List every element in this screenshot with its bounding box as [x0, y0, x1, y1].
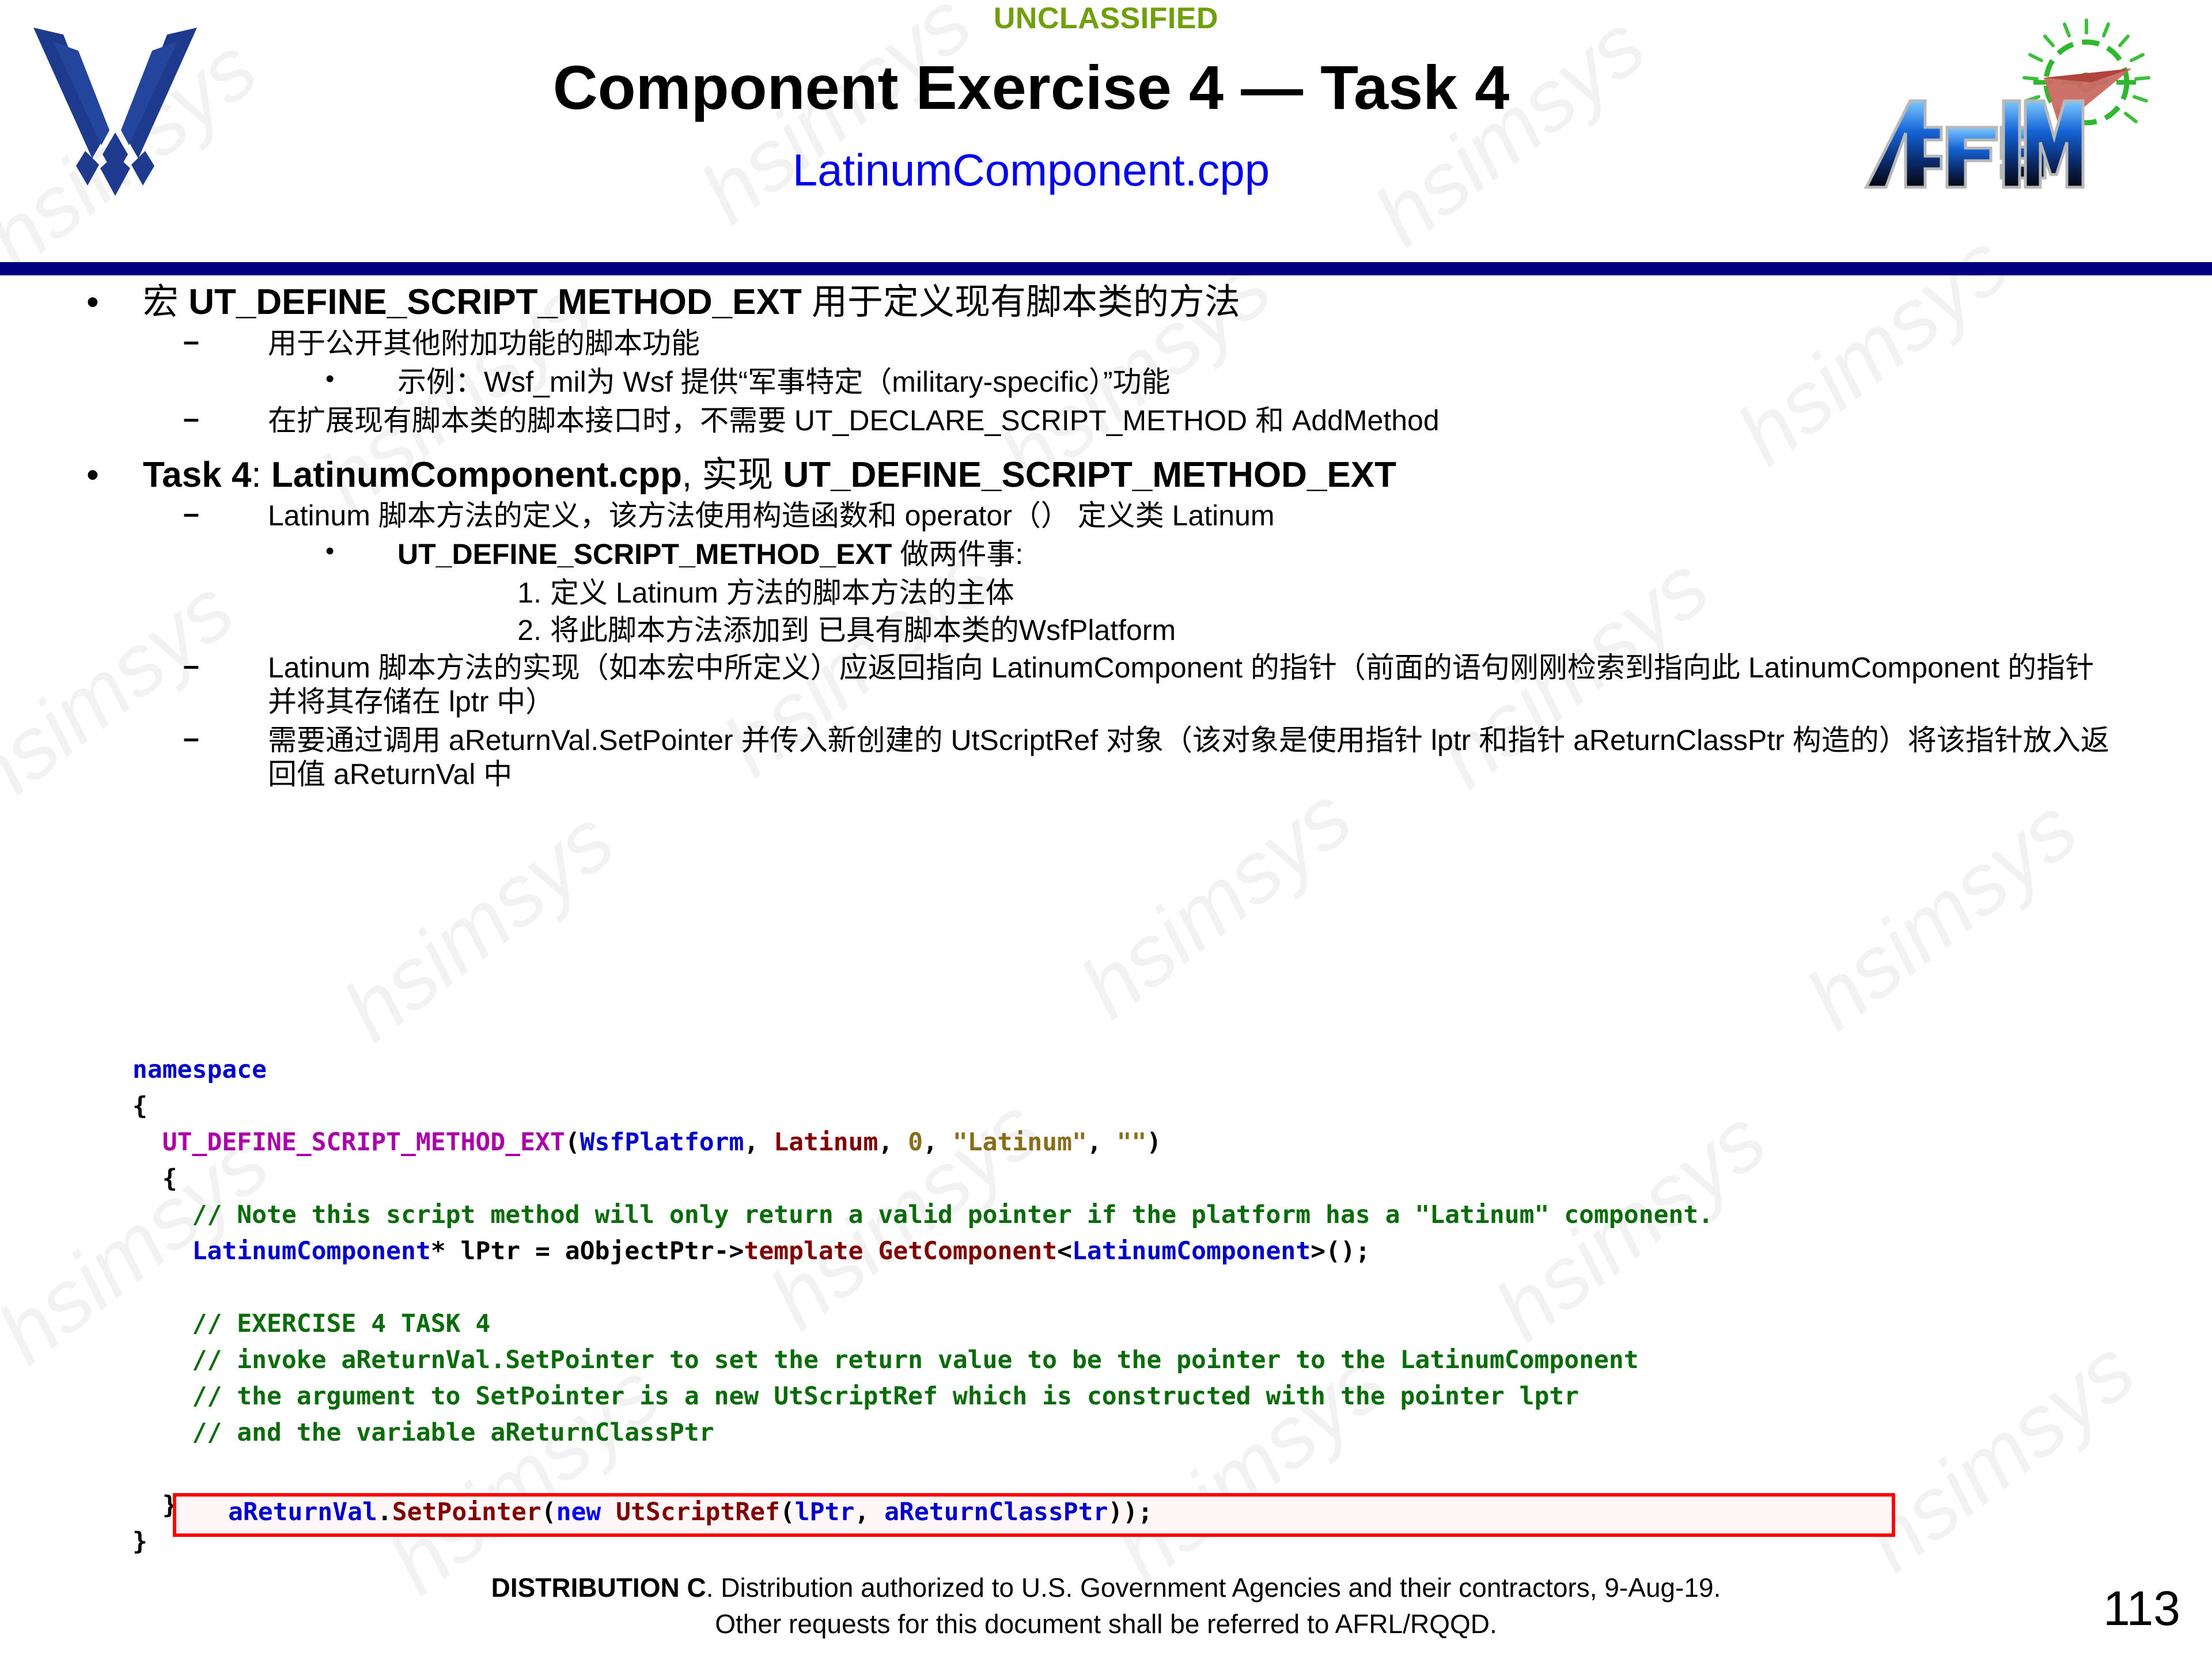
bullet-level2: – 在扩展现有脚本类的脚本接口时，不需要 UT_DECLARE_SCRIPT_M… — [0, 404, 2212, 438]
page-number: 113 — [2103, 1581, 2180, 1637]
bullet-level2: – 需要通过调用 aReturnVal.SetPointer 并传入新创建的 U… — [0, 724, 2212, 791]
macro-name: UT_DEFINE_SCRIPT_METHOD_EXT — [783, 455, 1397, 495]
code-token: } — [132, 1491, 177, 1520]
bullet-text-part: 宏 — [143, 282, 188, 322]
code-token: GetComponent — [878, 1237, 1057, 1266]
slide-header: UNCLASSIFIED Component Exercise 4 — Task… — [0, 0, 2212, 262]
code-token: 0 — [908, 1128, 923, 1157]
bullet-level1: • Task 4: LatinumComponent.cpp, 实现 UT_DE… — [0, 455, 2212, 496]
code-line: // invoke aReturnVal.SetPointer to set t… — [132, 1342, 2149, 1378]
bullet-marker: • — [325, 364, 334, 394]
distribution-label: DISTRIBUTION C — [491, 1573, 706, 1603]
code-token: , — [878, 1128, 908, 1157]
bullet-marker: – — [183, 649, 199, 683]
code-token: WsfPlatform — [580, 1128, 744, 1157]
code-token: , — [744, 1128, 774, 1157]
code-token: aReturnVal — [228, 1498, 377, 1527]
code-line: // the argument to SetPointer is a new U… — [132, 1378, 2149, 1415]
task-label: Task 4 — [143, 455, 251, 495]
bullet-text-part: , 实现 — [682, 455, 783, 495]
code-token: >(); — [1310, 1237, 1370, 1266]
code-token: ( — [541, 1498, 556, 1527]
afsim-logo-icon — [1861, 14, 2195, 204]
bullet-marker: • — [86, 282, 99, 323]
slide-body: • 宏 UT_DEFINE_SCRIPT_METHOD_EXT 用于定义现有脚本… — [0, 282, 2212, 796]
bullet-marker: – — [183, 497, 199, 531]
list-number: 2. — [472, 613, 541, 647]
page-title: Component Exercise 4 — Task 4 — [242, 55, 1820, 120]
bullet-level2: – 用于公开其他附加功能的脚本功能 — [0, 327, 2212, 361]
code-token: , — [1087, 1128, 1117, 1157]
bullet-text-macro: UT_DEFINE_SCRIPT_METHOD_EXT — [188, 282, 802, 322]
header-divider — [0, 262, 2212, 275]
code-token: { — [132, 1092, 147, 1120]
bullet-level3: • UT_DEFINE_SCRIPT_METHOD_EXT 做两件事: — [0, 537, 2212, 571]
bullet-level1: • 宏 UT_DEFINE_SCRIPT_METHOD_EXT 用于定义现有脚本… — [0, 282, 2212, 323]
code-token: template — [744, 1237, 863, 1266]
code-token: // EXERCISE 4 TASK 4 — [132, 1309, 490, 1338]
code-line: { — [132, 1088, 2149, 1124]
bullet-marker: • — [325, 536, 334, 566]
bullet-text: Latinum 脚本方法的定义，该方法使用构造函数和 operator（） 定义… — [268, 499, 1275, 532]
code-token — [601, 1498, 616, 1527]
bullet-text: 在扩展现有脚本类的脚本接口时，不需要 UT_DECLARE_SCRIPT_MET… — [268, 404, 1440, 437]
air-force-logo-icon — [23, 17, 207, 207]
numbered-item: 2. 将此脚本方法添加到 已具有脚本类的WsfPlatform — [0, 613, 2212, 647]
numbered-item: 1. 定义 Latinum 方法的脚本方法的主体 — [0, 576, 2212, 610]
code-line: UT_DEFINE_SCRIPT_METHOD_EXT(WsfPlatform,… — [132, 1124, 2149, 1161]
code-highlighted-line: aReturnVal.SetPointer(new UtScriptRef(lP… — [228, 1498, 1153, 1527]
code-token: aReturnClassPtr — [884, 1498, 1108, 1527]
bullet-text-part: 做两件事: — [892, 538, 1023, 570]
code-token: LatinumComponent — [192, 1237, 431, 1266]
bullet-text: Latinum 脚本方法的实现（如本宏中所定义）应返回指向 LatinumCom… — [268, 652, 2094, 718]
code-block: namespace{ UT_DEFINE_SCRIPT_METHOD_EXT(W… — [132, 1052, 2149, 1560]
code-line: namespace — [132, 1052, 2149, 1088]
code-token: "Latinum" — [953, 1128, 1087, 1157]
distribution-line-1: DISTRIBUTION C. Distribution authorized … — [0, 1570, 2212, 1606]
code-token: ( — [780, 1498, 795, 1527]
code-line: // and the variable aReturnClassPtr — [132, 1415, 2149, 1451]
code-token: SetPointer — [392, 1498, 541, 1527]
code-token: // and the variable aReturnClassPtr — [132, 1418, 714, 1447]
bullet-marker: • — [86, 455, 99, 496]
code-line: // EXERCISE 4 TASK 4 — [132, 1306, 2149, 1342]
code-token: lPtr — [795, 1498, 855, 1527]
code-line — [132, 1270, 2149, 1306]
code-token: // Note this script method will only ret… — [132, 1200, 1713, 1229]
code-token — [863, 1237, 878, 1266]
distribution-text: . Distribution authorized to U.S. Govern… — [706, 1573, 1721, 1603]
code-token — [132, 1237, 192, 1266]
bullet-level2: – Latinum 脚本方法的定义，该方法使用构造函数和 operator（） … — [0, 499, 2212, 533]
code-token: Latinum — [774, 1128, 878, 1157]
bullet-text-part: : — [251, 455, 271, 495]
distribution-line-2: Other requests for this document shall b… — [0, 1606, 2212, 1642]
code-line: LatinumComponent* lPtr = aObjectPtr->tem… — [132, 1233, 2149, 1270]
code-line: // Note this script method will only ret… — [132, 1197, 2149, 1233]
file-name: LatinumComponent.cpp — [271, 455, 682, 495]
code-token: , — [923, 1128, 953, 1157]
bullet-text: 定义 Latinum 方法的脚本方法的主体 — [550, 577, 1014, 609]
distribution-statement: DISTRIBUTION C. Distribution authorized … — [0, 1570, 2212, 1642]
bullet-marker: – — [183, 324, 199, 358]
code-token: // the argument to SetPointer is a new U… — [132, 1382, 1579, 1411]
code-token: // invoke aReturnVal.SetPointer to set t… — [132, 1346, 1639, 1374]
bullet-level3: • 示例：Wsf_mil为 Wsf 提供“军事特定（military-speci… — [0, 365, 2212, 399]
bullet-marker: – — [183, 721, 199, 755]
code-token: UtScriptRef — [616, 1498, 780, 1527]
bullet-text: 用于公开其他附加功能的脚本功能 — [268, 327, 700, 359]
code-token: { — [132, 1164, 177, 1193]
macro-name: UT_DEFINE_SCRIPT_METHOD_EXT — [397, 538, 892, 570]
bullet-text: 示例：Wsf_mil为 Wsf 提供“军事特定（military-specifi… — [397, 366, 1171, 398]
code-token: "" — [1117, 1128, 1147, 1157]
code-token: } — [132, 1527, 147, 1556]
bullet-level2: – Latinum 脚本方法的实现（如本宏中所定义）应返回指向 LatinumC… — [0, 651, 2212, 719]
code-token: LatinumComponent — [1072, 1237, 1310, 1266]
watermark-text: hsimsys — [1788, 779, 2095, 1050]
code-token: . — [377, 1498, 392, 1527]
code-token: namespace — [132, 1055, 267, 1084]
code-token: new — [556, 1498, 601, 1527]
list-number: 1. — [472, 576, 541, 610]
bullet-marker: – — [183, 402, 199, 435]
bullet-text: 将此脚本方法添加到 已具有脚本类的WsfPlatform — [550, 614, 1176, 646]
code-token: , — [854, 1498, 884, 1527]
code-token: ( — [565, 1128, 580, 1157]
page-subtitle: LatinumComponent.cpp — [242, 147, 1820, 194]
code-token: UT_DEFINE_SCRIPT_METHOD_EXT — [162, 1128, 565, 1157]
code-token: < — [1057, 1237, 1072, 1266]
code-token: * lPtr = aObjectPtr-> — [431, 1237, 744, 1266]
code-token — [132, 1128, 162, 1157]
code-token: )); — [1108, 1498, 1153, 1527]
code-line — [132, 1451, 2149, 1487]
watermark-text: hsimsys — [325, 790, 632, 1061]
bullet-text: 需要通过调用 aReturnVal.SetPointer 并传入新创建的 UtS… — [268, 724, 2109, 790]
code-token: ) — [1146, 1128, 1161, 1157]
code-line: { — [132, 1161, 2149, 1197]
bullet-text-part: 用于定义现有脚本类的方法 — [802, 282, 1240, 322]
watermark-text: hsimsys — [1062, 767, 1369, 1038]
